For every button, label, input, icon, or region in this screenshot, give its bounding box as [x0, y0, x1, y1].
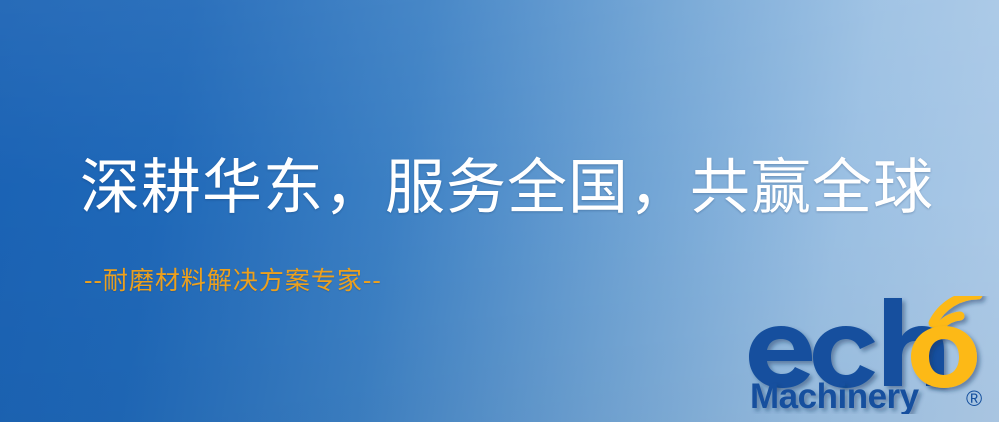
- echo-machinery-logo[interactable]: Machinery ®: [748, 296, 994, 414]
- banner-headline: 深耕华东，服务全国，共赢全球: [80, 152, 934, 224]
- banner-subtitle: --耐磨材料解决方案专家--: [84, 264, 382, 298]
- registered-mark: ®: [966, 386, 982, 411]
- logo-tagline: Machinery: [750, 377, 920, 414]
- hero-banner: 深耕华东，服务全国，共赢全球 --耐磨材料解决方案专家--: [0, 0, 999, 422]
